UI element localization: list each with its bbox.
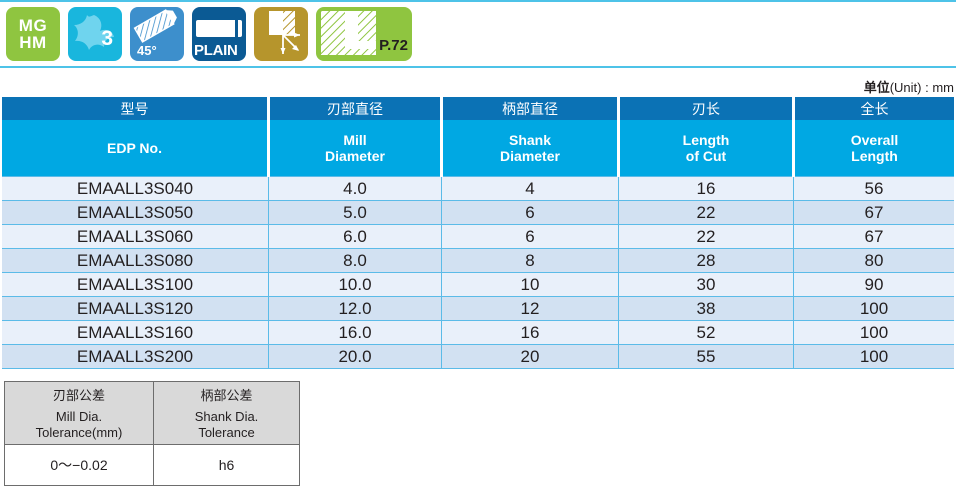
cell-overall-length: 67 [794,201,955,225]
header-cn-overall-length: 全长 [794,97,955,120]
cell-shank-diameter: 4 [442,177,619,201]
product-attribute-icon-strip: MG HM 3 45° PLAIN [6,7,412,61]
material-mg-hm-line1: MG [19,17,47,34]
plain-shank-icon: PLAIN [192,7,246,61]
cell-mill-diameter: 6.0 [269,225,442,249]
tolerance-header-en-mill: Mill Dia.Tolerance(mm) [5,406,154,445]
tolerance-header-cn-shank: 柄部公差 [154,382,300,407]
flute-count-icon: 3 [68,7,122,61]
header-cn-edp: 型号 [2,97,269,120]
tolerance-value-row: 0～−0.02 h6 [5,445,300,486]
header-cn-mill-diameter: 刃部直径 [269,97,442,120]
table-row: EMAALL3S0505.062267 [2,201,954,225]
cell-edp-no: EMAALL3S100 [2,273,269,297]
cell-mill-diameter: 5.0 [269,201,442,225]
header-en-overall-length: OverallLength [794,120,955,177]
header-en-mill-diameter: MillDiameter [269,120,442,177]
cell-length-of-cut: 38 [619,297,794,321]
cell-length-of-cut: 22 [619,201,794,225]
cell-overall-length: 80 [794,249,955,273]
table-row: EMAALL3S0808.082880 [2,249,954,273]
table-row: EMAALL3S0404.041656 [2,177,954,201]
cell-shank-diameter: 16 [442,321,619,345]
cell-mill-diameter: 4.0 [269,177,442,201]
cell-edp-no: EMAALL3S200 [2,345,269,369]
material-mg-hm-line2: HM [19,34,46,51]
cell-mill-diameter: 20.0 [269,345,442,369]
specification-table: 型号 刃部直径 柄部直径 刃长 全长 EDP No. MillDiameter … [2,97,954,369]
cell-edp-no: EMAALL3S120 [2,297,269,321]
cell-overall-length: 56 [794,177,955,201]
table-row: EMAALL3S16016.01652100 [2,321,954,345]
top-rule [0,0,956,2]
page-reference-label: P.72 [379,37,408,54]
cell-edp-no: EMAALL3S080 [2,249,269,273]
cell-shank-diameter: 6 [442,225,619,249]
header-en-edp: EDP No. [2,120,269,177]
cell-overall-length: 100 [794,345,955,369]
tolerance-value-mill: 0～−0.02 [5,445,154,486]
unit-note-en: (Unit) : mm [890,80,954,95]
tolerance-value-shank: h6 [154,445,300,486]
cell-length-of-cut: 28 [619,249,794,273]
header-cn-shank-diameter: 柄部直径 [442,97,619,120]
cell-edp-no: EMAALL3S040 [2,177,269,201]
tolerance-table-head: 刃部公差 柄部公差 Mill Dia.Tolerance(mm) Shank D… [5,382,300,445]
flute-count-value: 3 [101,27,113,51]
plain-shank-label: PLAIN [194,42,238,59]
cell-overall-length: 67 [794,225,955,249]
icon-strip-bottom-rule [0,66,956,68]
cell-shank-diameter: 12 [442,297,619,321]
cell-length-of-cut: 22 [619,225,794,249]
shoulder-milling-shape [254,7,308,61]
cell-overall-length: 100 [794,297,955,321]
header-en-shank-diameter: ShankDiameter [442,120,619,177]
specification-table-head: 型号 刃部直径 柄部直径 刃长 全长 EDP No. MillDiameter … [2,97,954,177]
unit-note-cn: 单位 [864,80,890,95]
cell-shank-diameter: 10 [442,273,619,297]
table-row: EMAALL3S0606.062267 [2,225,954,249]
cell-length-of-cut: 55 [619,345,794,369]
header-row-cn: 型号 刃部直径 柄部直径 刃长 全长 [2,97,954,120]
header-en-length-of-cut: Lengthof Cut [619,120,794,177]
unit-note: 单位(Unit) : mm [864,77,954,96]
cell-mill-diameter: 10.0 [269,273,442,297]
cell-length-of-cut: 52 [619,321,794,345]
cell-shank-diameter: 6 [442,201,619,225]
tolerance-header-row-en: Mill Dia.Tolerance(mm) Shank Dia.Toleran… [5,406,300,445]
cell-overall-length: 100 [794,321,955,345]
header-row-en: EDP No. MillDiameter ShankDiameter Lengt… [2,120,954,177]
cell-overall-length: 90 [794,273,955,297]
cell-edp-no: EMAALL3S050 [2,201,269,225]
cell-edp-no: EMAALL3S160 [2,321,269,345]
cell-shank-diameter: 20 [442,345,619,369]
cell-mill-diameter: 12.0 [269,297,442,321]
slot-milling-page-ref-icon: P.72 [316,7,412,61]
cell-mill-diameter: 16.0 [269,321,442,345]
plain-shank-shape [196,20,242,37]
cell-length-of-cut: 30 [619,273,794,297]
tolerance-header-row-cn: 刃部公差 柄部公差 [5,382,300,407]
material-mg-hm-icon: MG HM [6,7,60,61]
table-row: EMAALL3S20020.02055100 [2,345,954,369]
tolerance-table: 刃部公差 柄部公差 Mill Dia.Tolerance(mm) Shank D… [4,381,300,486]
cell-shank-diameter: 8 [442,249,619,273]
shoulder-milling-icon [254,7,308,61]
table-row: EMAALL3S10010.0103090 [2,273,954,297]
table-row: EMAALL3S12012.01238100 [2,297,954,321]
cell-mill-diameter: 8.0 [269,249,442,273]
cell-length-of-cut: 16 [619,177,794,201]
specification-table-body: EMAALL3S0404.041656EMAALL3S0505.062267EM… [2,177,954,369]
cell-edp-no: EMAALL3S060 [2,225,269,249]
helix-angle-icon: 45° [130,7,184,61]
header-cn-length-of-cut: 刃长 [619,97,794,120]
helix-angle-value: 45° [137,43,157,58]
tolerance-header-en-shank: Shank Dia.Tolerance [154,406,300,445]
tolerance-table-body: 0～−0.02 h6 [5,445,300,486]
tolerance-header-cn-mill: 刃部公差 [5,382,154,407]
